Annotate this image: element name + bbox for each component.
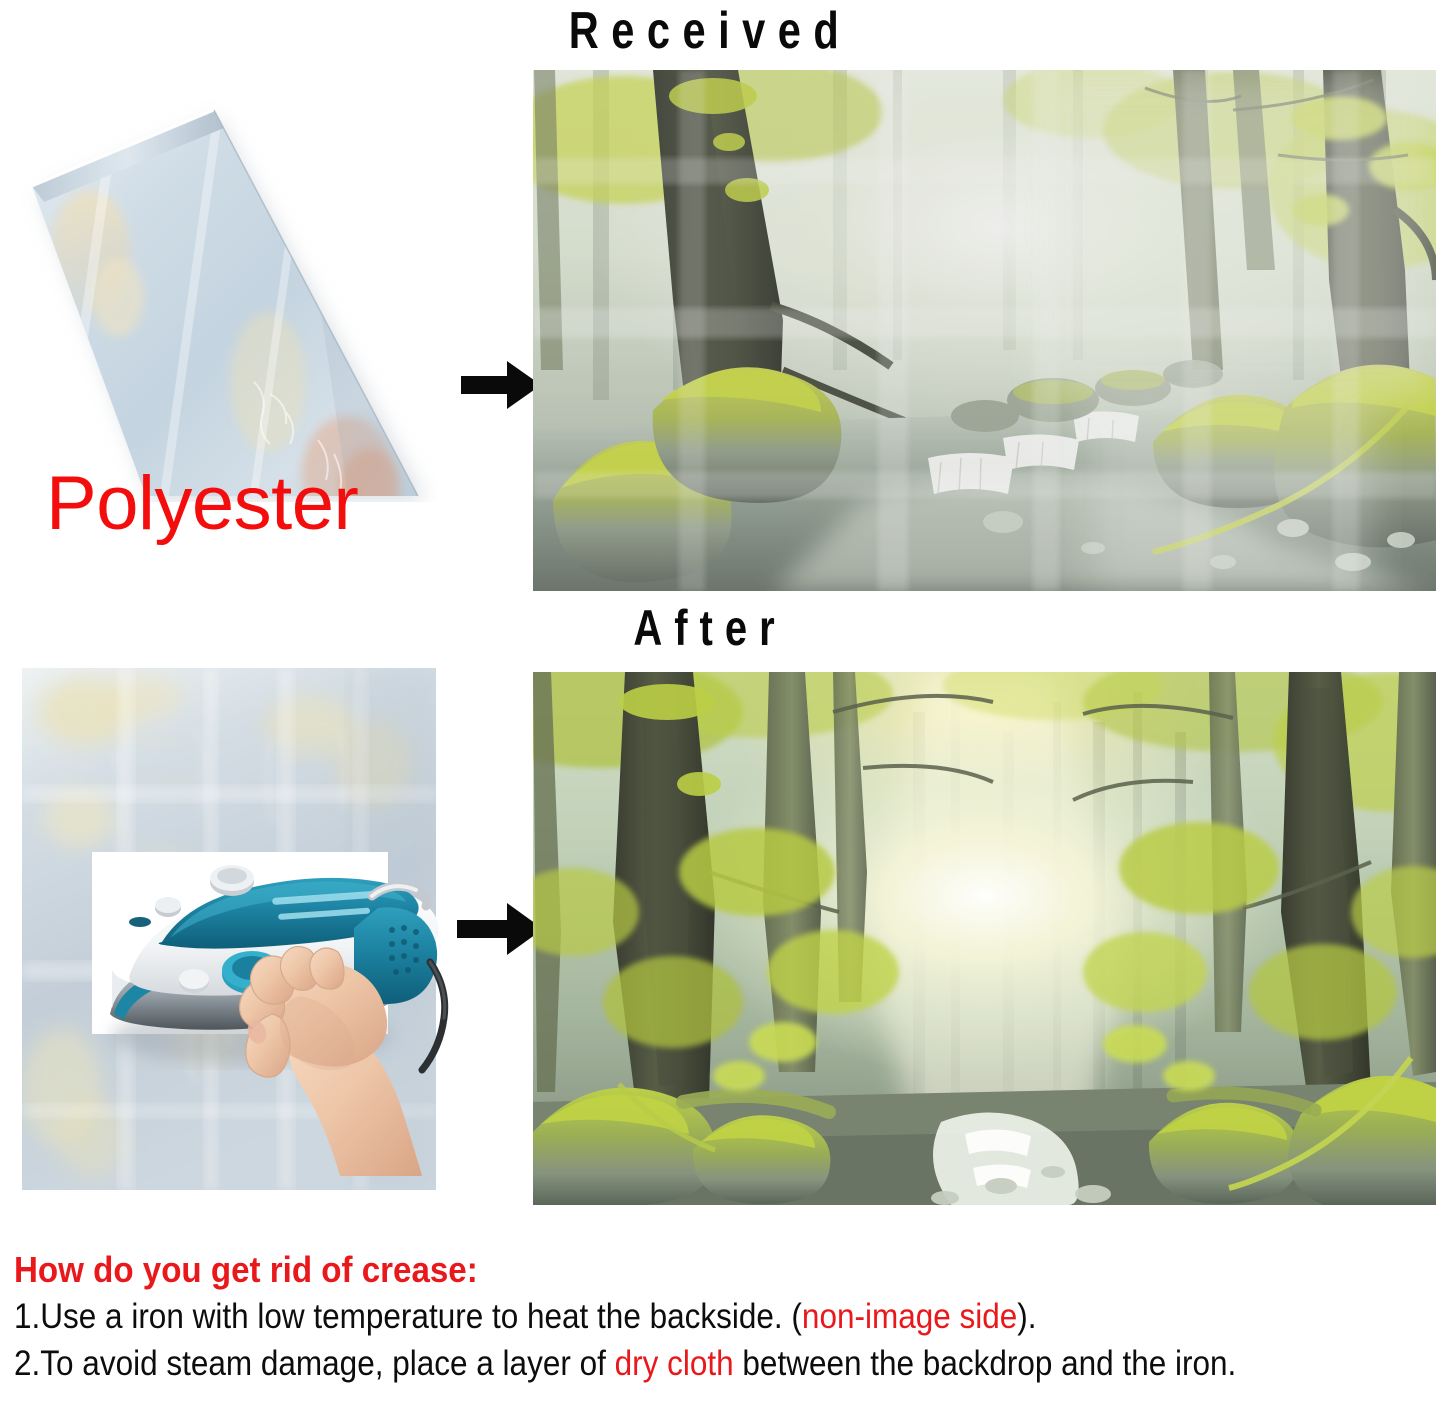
right-arrow-icon-2 xyxy=(455,900,545,958)
instruction-1-text-after: ). xyxy=(1017,1297,1036,1336)
folded-fabric-swatch xyxy=(18,82,438,502)
received-heading: Received xyxy=(446,2,974,60)
iron-photo-card xyxy=(92,852,388,1034)
instruction-line-1: 1.Use a iron with low temperature to hea… xyxy=(14,1294,1288,1339)
instruction-1-text-before: Use a iron with low temperature to heat … xyxy=(40,1297,802,1336)
instruction-2-number: 2. xyxy=(14,1344,40,1383)
instruction-2-text-after: between the backdrop and the iron. xyxy=(734,1344,1237,1383)
instruction-2-text-before: To avoid steam damage, place a layer of xyxy=(40,1344,614,1383)
crease-instructions: How do you get rid of crease: 1.Use a ir… xyxy=(14,1248,1429,1386)
received-backdrop-photo xyxy=(533,70,1436,591)
instruction-line-2: 2.To avoid steam damage, place a layer o… xyxy=(14,1341,1288,1386)
smooth-forest-scene xyxy=(533,672,1436,1205)
instruction-2-highlight: dry cloth xyxy=(615,1344,734,1383)
instruction-1-highlight: non-image side xyxy=(802,1297,1017,1336)
polyester-label: Polyester xyxy=(46,462,358,546)
after-backdrop-photo xyxy=(533,672,1436,1205)
crease-overlay xyxy=(533,70,1436,591)
folded-fabric-illustration xyxy=(18,82,438,502)
crease-instructions-heading: How do you get rid of crease: xyxy=(14,1248,1316,1292)
instruction-1-number: 1. xyxy=(14,1297,40,1336)
creased-forest-scene xyxy=(533,70,1436,591)
right-arrow-icon xyxy=(459,358,543,412)
infographic-page: Received xyxy=(0,0,1436,1402)
after-heading: After xyxy=(486,600,934,656)
